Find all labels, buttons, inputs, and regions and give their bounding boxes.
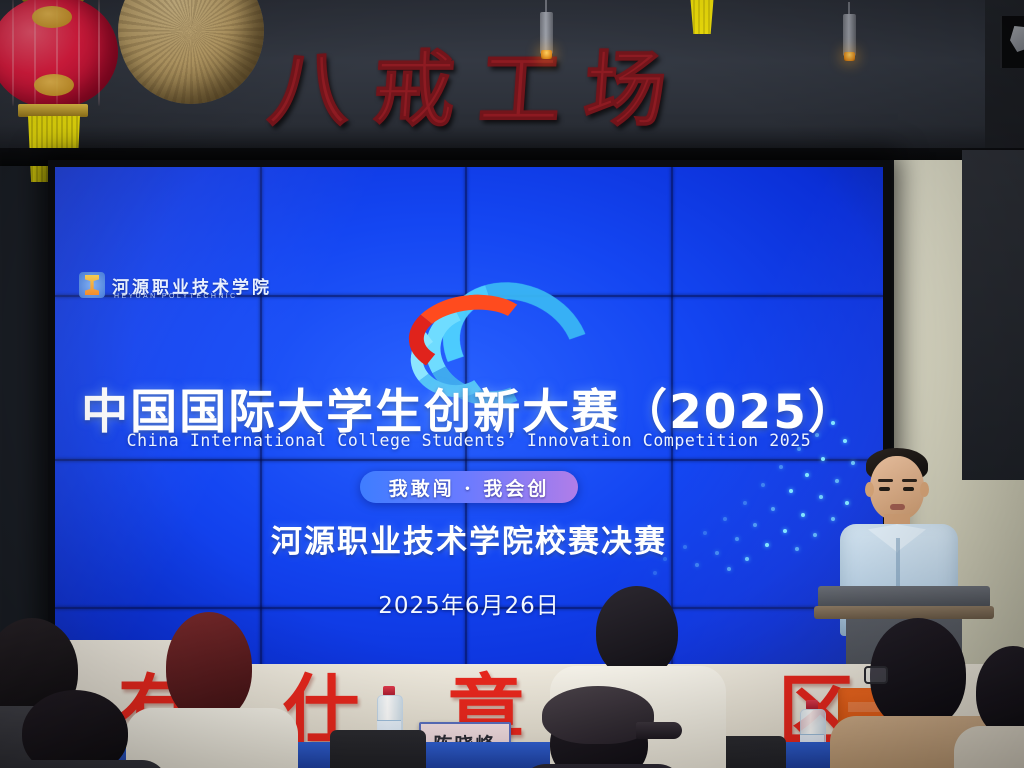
chair-left [330,730,426,768]
slide-subtitle-cn: 河源职业技术学院校赛决赛 [55,516,883,561]
right-dark-panel [962,150,1024,480]
venue-sign-char-3: 工 [476,50,566,132]
slogan-badge: 我敢闯 · 我会创 [360,471,578,503]
school-logo-mark-icon [79,272,105,298]
venue-sign-char-4: 场 [581,50,671,132]
competition-swirl-emblem-icon [399,289,559,371]
ceiling-vent-icon [1000,16,1024,68]
cap-brim [636,722,682,739]
venue-sign-char-2: 戒 [370,50,460,132]
yellow-fringe-banner [690,0,714,34]
video-wall-screen: 河源职业技术学院 HEYUAN POLYTECHNIC [55,167,883,679]
red-lantern-decoration [0,0,118,163]
school-logo-name-en: HEYUAN POLYTECHNIC [114,293,238,300]
photo-scene: 八 戒 工 场 [0,0,1024,768]
eyeglasses-icon [864,666,888,684]
slide-title-en: China International College Students’ In… [55,431,883,450]
slogan-text: 我敢闯 · 我会创 [389,474,550,501]
venue-sign-char-1: 八 [265,50,355,132]
slide-date: 2025年6月26日 [55,586,883,620]
venue-sign: 八 戒 工 场 [268,36,668,146]
video-wall: 河源职业技术学院 HEYUAN POLYTECHNIC [48,160,890,686]
school-logo: 河源职业技术学院 HEYUAN POLYTECHNIC [79,272,272,298]
